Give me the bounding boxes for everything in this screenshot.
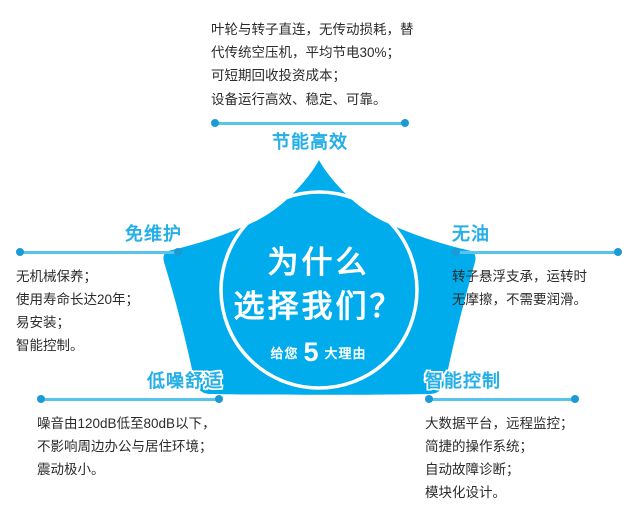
- divider-dot-left: [425, 395, 433, 403]
- divider-bar: [20, 251, 178, 254]
- divider-dot-right: [401, 119, 409, 127]
- divider-dot-right: [215, 395, 223, 403]
- feature-bottom-left-line-2: 不影响周边办公与居住环境；: [37, 435, 223, 458]
- feature-block-low-noise: 低噪舒适 噪音由120dB低至80dB以下， 不影响周边办公与居住环境； 震动极…: [37, 372, 223, 481]
- divider-bar: [429, 398, 575, 401]
- pentagon-burst-shape: [163, 160, 475, 395]
- feature-left-line-2: 使用寿命长达20年；: [16, 288, 182, 311]
- feature-bottom-left-divider: [37, 395, 223, 404]
- feature-top-line-1: 叶轮与转子直连，无传动损耗，替: [211, 18, 409, 41]
- divider-dot-left: [211, 119, 219, 127]
- divider-dot-right: [571, 395, 579, 403]
- feature-bottom-right-title: 智能控制: [425, 372, 579, 392]
- divider-dot-left: [452, 248, 460, 256]
- feature-block-maintenance-free: 免维护 无机械保养； 使用寿命长达20年； 易安装； 智能控制。: [16, 225, 182, 358]
- feature-bottom-left-body: 噪音由120dB低至80dB以下， 不影响周边办公与居住环境； 震动极小。: [37, 412, 223, 482]
- feature-top-line-3: 可短期回收投资成本；: [211, 64, 409, 87]
- feature-top-divider: [211, 119, 409, 128]
- divider-bar: [41, 398, 219, 401]
- divider-dot-right: [614, 248, 622, 256]
- feature-top-body: 叶轮与转子直连，无传动损耗，替 代传统空压机，平均节电30%； 可短期回收投资成…: [211, 18, 409, 111]
- feature-bottom-right-line-2: 简捷的操作系统；: [425, 435, 579, 458]
- feature-left-divider: [16, 248, 182, 257]
- feature-right-line-1: 转子悬浮支承，运转时: [452, 265, 622, 288]
- feature-block-energy-saving: 叶轮与转子直连，无传动损耗，替 代传统空压机，平均节电30%； 可短期回收投资成…: [211, 18, 409, 153]
- feature-right-title: 无油: [452, 225, 622, 245]
- feature-bottom-right-line-1: 大数据平台，远程监控；: [425, 412, 579, 435]
- feature-bottom-left-title: 低噪舒适: [37, 372, 223, 392]
- feature-left-title: 免维护: [16, 225, 182, 245]
- feature-top-line-4: 设备运行高效、稳定、可靠。: [211, 88, 409, 111]
- feature-right-divider: [452, 248, 622, 257]
- feature-block-smart-control: 智能控制 大数据平台，远程监控； 简捷的操作系统； 自动故障诊断； 模块化设计。: [425, 372, 579, 505]
- feature-left-line-1: 无机械保养；: [16, 265, 182, 288]
- feature-top-title: 节能高效: [211, 133, 409, 153]
- divider-bar: [456, 251, 618, 254]
- feature-right-line-2: 无摩擦，不需要润滑。: [452, 288, 622, 311]
- divider-dot-right: [174, 248, 182, 256]
- feature-top-line-2: 代传统空压机，平均节电30%；: [211, 41, 409, 64]
- feature-left-body: 无机械保养； 使用寿命长达20年； 易安装； 智能控制。: [16, 265, 182, 358]
- feature-bottom-right-divider: [425, 395, 579, 404]
- feature-bottom-right-line-3: 自动故障诊断；: [425, 458, 579, 481]
- feature-bottom-right-line-4: 模块化设计。: [425, 481, 579, 504]
- divider-bar: [215, 122, 405, 125]
- feature-block-oil-free: 无油 转子悬浮支承，运转时 无摩擦，不需要润滑。: [452, 225, 622, 311]
- feature-bottom-left-line-3: 震动极小。: [37, 458, 223, 481]
- divider-dot-left: [16, 248, 24, 256]
- feature-left-line-3: 易安装；: [16, 311, 182, 334]
- feature-bottom-left-line-1: 噪音由120dB低至80dB以下，: [37, 412, 223, 435]
- feature-right-body: 转子悬浮支承，运转时 无摩擦，不需要润滑。: [452, 265, 622, 311]
- feature-left-line-4: 智能控制。: [16, 334, 182, 357]
- feature-bottom-right-body: 大数据平台，远程监控； 简捷的操作系统； 自动故障诊断； 模块化设计。: [425, 412, 579, 505]
- infographic-canvas: 为什么 选择我们？ 给您 5 大理由 叶轮与转子直连，无传动损耗，替 代传统空压…: [0, 0, 637, 516]
- divider-dot-left: [37, 395, 45, 403]
